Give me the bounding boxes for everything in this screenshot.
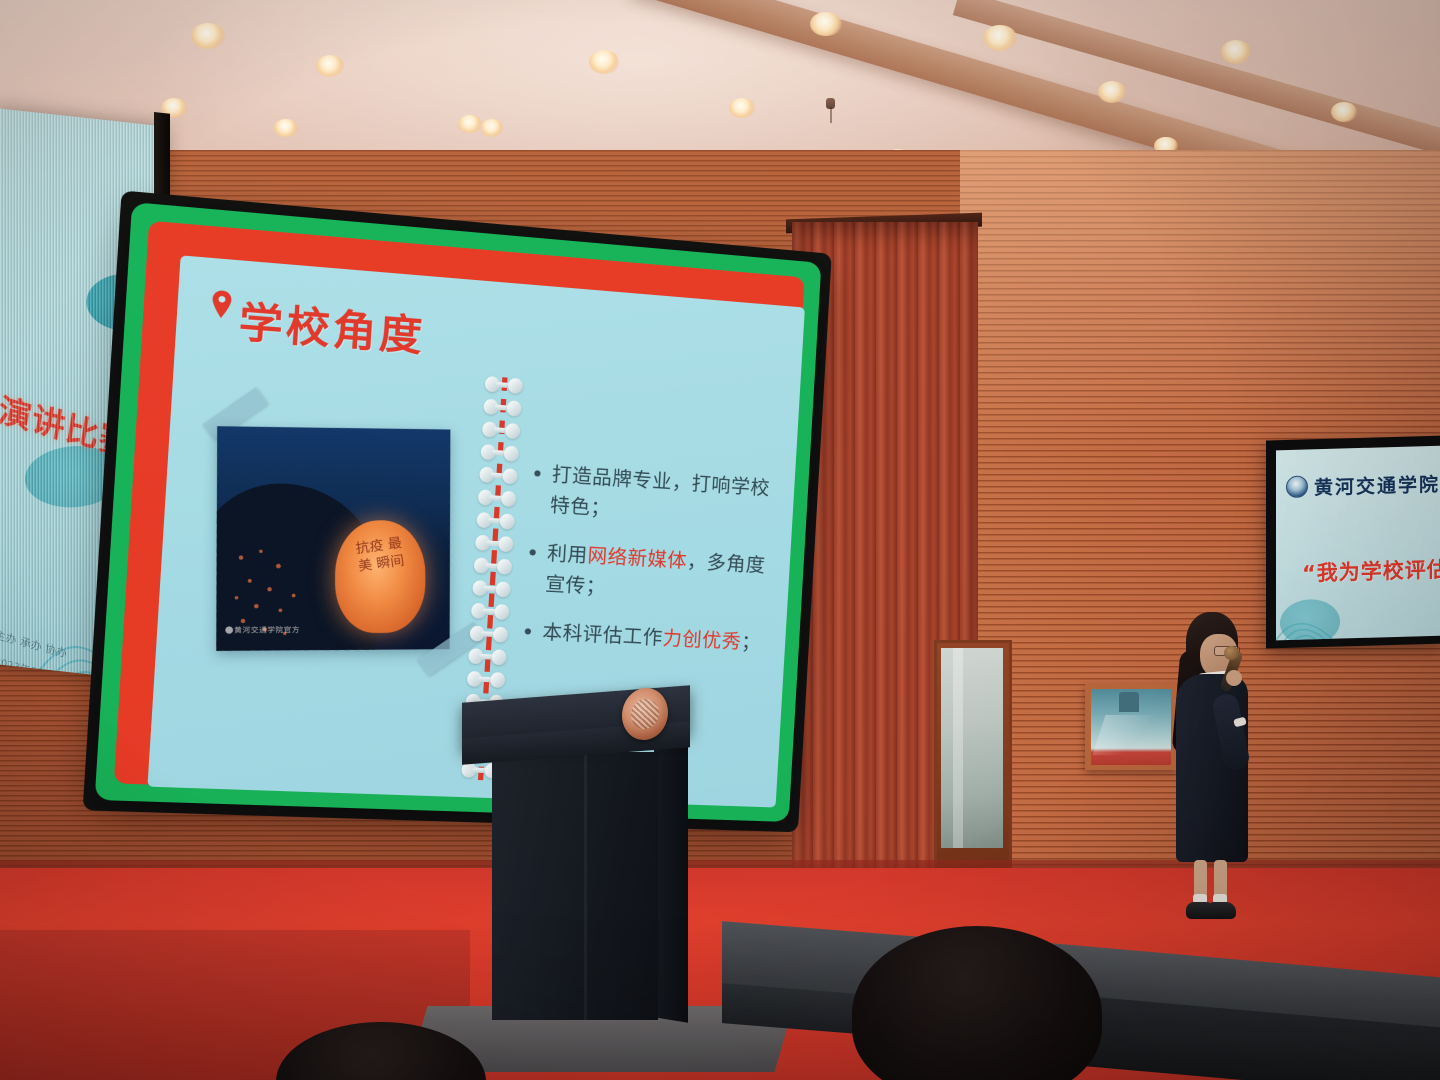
recessed-downlight-icon [589, 50, 619, 73]
binding-ring [479, 467, 518, 485]
artwork-tower-shape [1119, 692, 1139, 712]
presenter-shoe-right [1206, 902, 1236, 919]
binding-ring [469, 625, 508, 642]
binding-ring [478, 489, 517, 507]
binding-ring [471, 603, 510, 620]
slide-title: 学校角度 [237, 288, 427, 363]
school-crest-icon-right [1286, 475, 1308, 498]
bullet-highlight-text: 网络新媒体 [587, 544, 688, 572]
bullet-text: 利用 [547, 542, 589, 567]
screen-border-outer: 学校角度 [95, 202, 822, 822]
slide-bullet-list: 打造品牌专业，打响学校特色；利用网络新媒体，多角度宣传；本科评估工作力创优秀； [522, 458, 776, 676]
recessed-downlight-icon [1331, 102, 1357, 122]
binding-ring [472, 580, 511, 597]
main-projection-screen[interactable]: 学校角度 [95, 202, 822, 822]
right-screen-blob [1280, 599, 1340, 641]
photo-lantern-text: 抗疫 最美 瞬间 [355, 534, 413, 576]
screen-border-inner: 学校角度 [114, 221, 805, 806]
photo-watermark-icon [225, 626, 233, 633]
binding-ring [476, 512, 515, 530]
presenter [1158, 612, 1268, 932]
auditorium-scene: 演讲比赛决赛 主办 承办 协办 2023年6月 学校角度 [0, 0, 1440, 1080]
binding-ring [475, 535, 514, 553]
binding-ring [474, 557, 513, 575]
podium-side [654, 741, 688, 1022]
microphone-head [1224, 646, 1239, 660]
binding-ring [468, 648, 507, 665]
recessed-downlight-icon [191, 23, 225, 50]
bullet-highlight-text: 力创优秀 [662, 627, 742, 653]
slide-photo: 抗疫 最美 瞬间 黄河交通学院官方 [216, 426, 450, 651]
podium-body [492, 752, 658, 1020]
slide-bullet-item: 利用网络新媒体，多角度宣传； [526, 537, 772, 611]
recessed-downlight-icon [274, 119, 298, 138]
photo-watermark: 黄河交通学院官方 [234, 625, 300, 636]
location-pin-icon [210, 290, 233, 319]
right-wall-highlight [960, 150, 1440, 450]
bullet-text: 打造品牌专业，打响学校特色； [549, 463, 770, 520]
door-glass-panel [941, 648, 1003, 848]
binding-ring [467, 671, 506, 688]
right-screen[interactable]: 黄河交通学院 “我为学校评估 [1276, 446, 1440, 641]
binding-ring [480, 444, 519, 462]
recessed-downlight-icon [481, 119, 503, 136]
presenter-hand [1226, 670, 1242, 686]
recessed-downlight-icon [983, 25, 1017, 52]
binding-ring [485, 376, 524, 394]
slide-bullet-item: 本科评估工作力创优秀； [523, 616, 767, 658]
right-screen-headline: “我为学校评估 [1302, 554, 1440, 588]
sprinkler-stem [830, 107, 832, 123]
sprinkler-icon [826, 98, 835, 109]
recessed-downlight-icon [458, 115, 482, 134]
binding-ring [482, 421, 521, 439]
recessed-downlight-icon [316, 55, 344, 77]
recessed-downlight-icon [1098, 81, 1126, 103]
bullet-text: 本科评估工作 [542, 621, 664, 649]
right-screen-school-name: 黄河交通学院 [1314, 470, 1440, 501]
binding-ring [483, 399, 522, 417]
slide-bullet-item: 打造品牌专业，打响学校特色； [530, 458, 776, 534]
recessed-downlight-icon [1221, 40, 1251, 63]
bullet-text: ； [741, 631, 762, 654]
recessed-downlight-icon [729, 98, 755, 118]
